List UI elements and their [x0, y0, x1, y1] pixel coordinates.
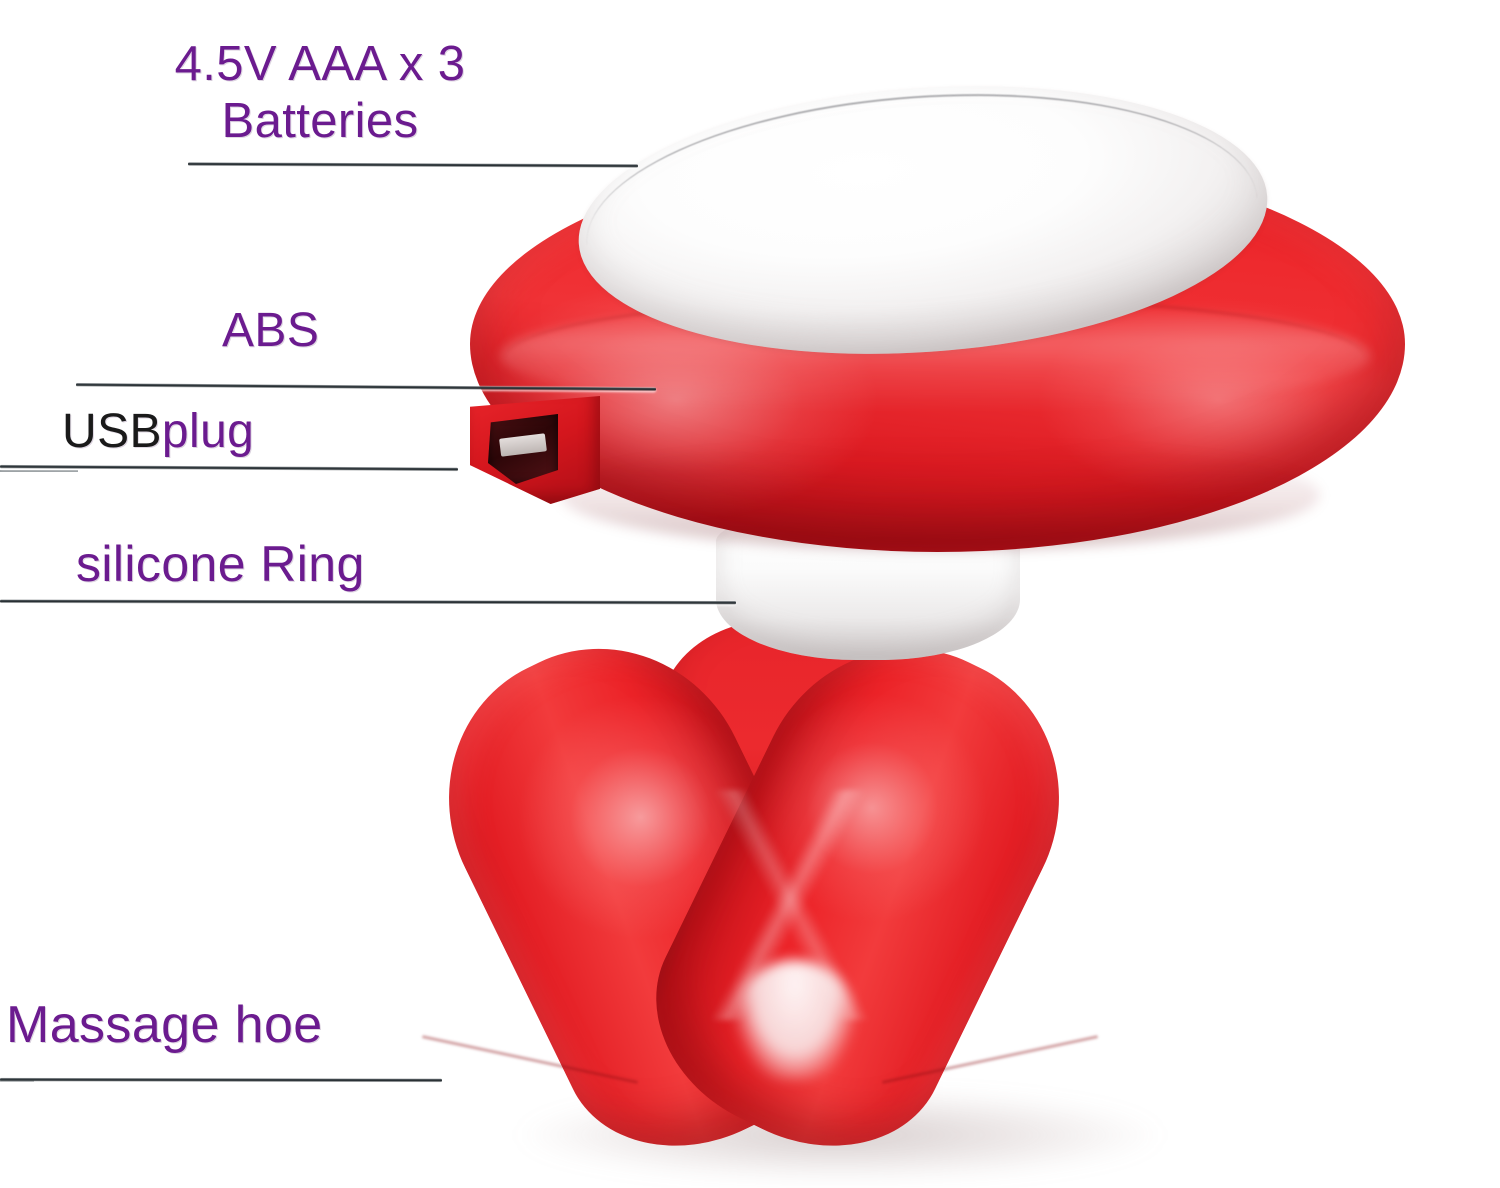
- dome-highlight: [500, 300, 1370, 412]
- callout-label-batteries: 4.5V AAA x 3 Batteries: [110, 36, 530, 150]
- massage-leg-left: [398, 600, 891, 1188]
- callout-label-abs: ABS: [222, 303, 319, 358]
- callout-abs-text: ABS: [222, 304, 319, 357]
- callout-label-usb-plug: USBplug: [62, 404, 254, 459]
- leader-line-batteries: [188, 162, 638, 168]
- callout-label-silicone-ring: silicone Ring: [76, 535, 365, 593]
- dome-bottom-rim: [560, 440, 1320, 550]
- battery-top-cap: [570, 64, 1277, 375]
- callout-batteries-line1: 4.5V AAA x 3: [175, 37, 466, 91]
- usb-plug-housing: [470, 396, 600, 504]
- contact-shadow: [520, 1090, 1160, 1180]
- leader-tail-usb: [0, 470, 78, 472]
- battery-cap-edge: [578, 73, 1266, 371]
- callout-label-massage-hoe: Massage hoe: [6, 995, 323, 1055]
- leg-seam-left: [422, 1035, 638, 1084]
- usb-plug-port: [488, 414, 558, 484]
- abs-dome-shell: [470, 152, 1405, 552]
- callout-usb-word: USB: [62, 405, 162, 458]
- product-callout-image: 4.5V AAA x 3 Batteries ABS USBplug silic…: [0, 0, 1500, 1188]
- massage-leg-center: [660, 620, 910, 980]
- callout-silicone-ring-text: silicone Ring: [76, 536, 365, 592]
- callout-batteries-line2: Batteries: [222, 94, 419, 148]
- legs-gap-highlight: [735, 960, 855, 1080]
- silicone-ring-part: [716, 508, 1020, 660]
- dome-crease: [505, 296, 1365, 419]
- leg-seam-right: [882, 1035, 1098, 1084]
- leader-line-abs: [76, 383, 656, 392]
- leader-line-silicone-ring: [0, 599, 736, 605]
- usb-plug-tongue: [499, 433, 547, 456]
- callout-massage-hoe-text: Massage hoe: [6, 996, 323, 1054]
- leader-line-massage-hoe: [0, 1078, 442, 1083]
- legs-x-crease: [690, 790, 890, 1020]
- massage-leg-right: [616, 600, 1109, 1188]
- callout-plug-word: plug: [162, 405, 254, 458]
